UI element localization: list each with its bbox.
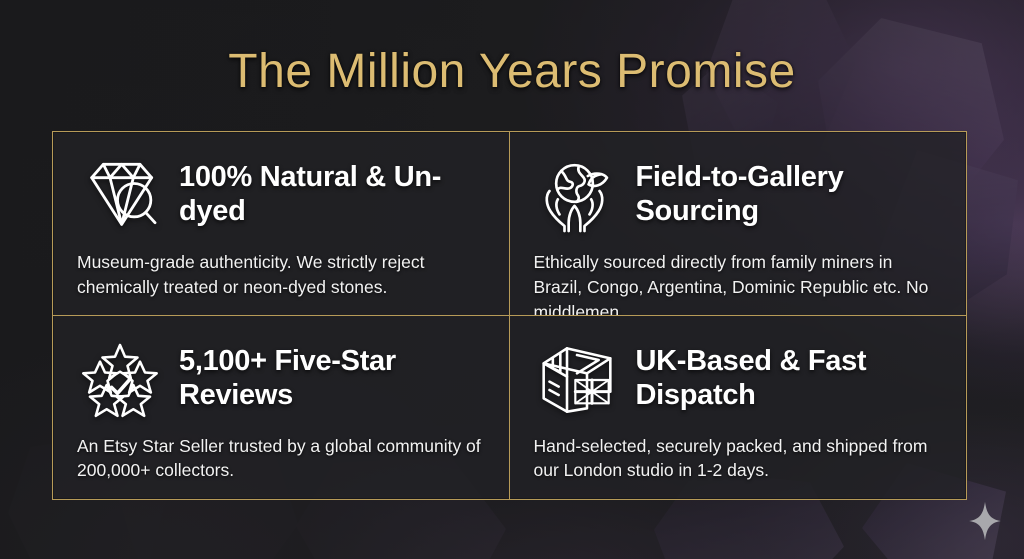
benefit-title: 5,100+ Five-Star Reviews <box>179 338 483 412</box>
benefit-body: Museum-grade authenticity. We strictly r… <box>77 250 483 300</box>
globe-in-hands-leaf-icon <box>534 156 620 236</box>
four-point-sparkle-icon <box>968 501 1002 541</box>
benefit-body: Hand-selected, securely packed, and ship… <box>534 434 941 484</box>
page-title: The Million Years Promise <box>0 44 1024 99</box>
benefit-card-natural-undyed: 100% Natural & Un-dyed Museum-grade auth… <box>53 132 510 316</box>
shipping-box-uk-flag-icon <box>534 340 620 420</box>
promise-banner: The Million Years Promise 100% Natural &… <box>0 0 1024 559</box>
benefits-grid: 100% Natural & Un-dyed Museum-grade auth… <box>52 131 967 500</box>
benefit-title: UK-Based & Fast Dispatch <box>636 338 941 412</box>
benefit-title: 100% Natural & Un-dyed <box>179 154 483 228</box>
benefit-body: An Etsy Star Seller trusted by a global … <box>77 434 483 484</box>
benefit-card-header: Field-to-Gallery Sourcing <box>534 154 941 236</box>
benefit-body: Ethically sourced directly from family m… <box>534 250 941 316</box>
benefit-card-header: UK-Based & Fast Dispatch <box>534 338 941 420</box>
five-stars-check-icon <box>77 340 163 420</box>
benefit-card-header: 100% Natural & Un-dyed <box>77 154 483 236</box>
benefit-card-reviews: 5,100+ Five-Star Reviews An Etsy Star Se… <box>53 316 510 500</box>
benefit-card-dispatch: UK-Based & Fast Dispatch Hand-selected, … <box>510 316 967 500</box>
benefit-card-sourcing: Field-to-Gallery Sourcing Ethically sour… <box>510 132 967 316</box>
diamond-magnifier-icon <box>77 156 163 236</box>
uk-flag-icon <box>575 380 608 403</box>
benefit-title: Field-to-Gallery Sourcing <box>636 154 941 228</box>
benefit-card-header: 5,100+ Five-Star Reviews <box>77 338 483 420</box>
